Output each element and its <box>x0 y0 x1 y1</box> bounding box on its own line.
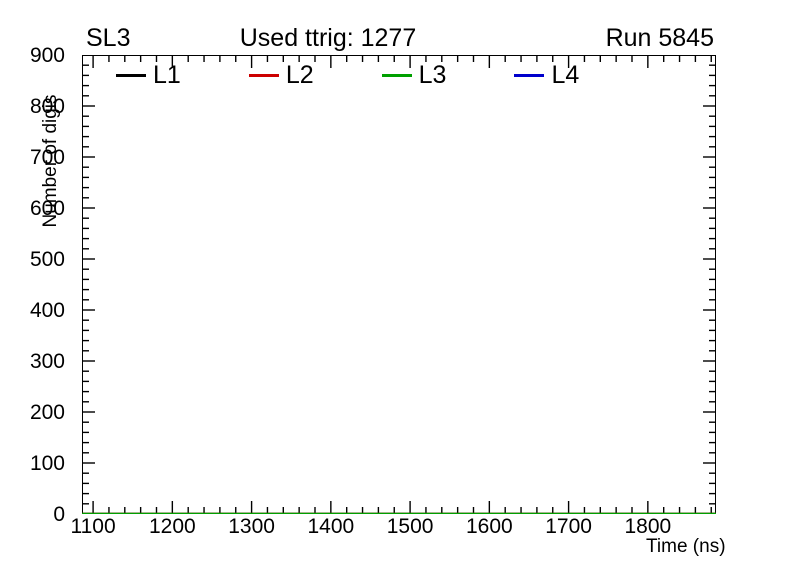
x-tick-label: 1300 <box>228 516 275 537</box>
x-tick-label: 1700 <box>545 516 592 537</box>
x-tick-label: 1800 <box>624 516 671 537</box>
legend-label: L1 <box>153 63 181 88</box>
legend-item-l1[interactable]: L1 <box>116 63 181 88</box>
axis-ticks <box>82 55 716 514</box>
y-tick-label: 100 <box>30 453 65 474</box>
legend-label: L3 <box>419 63 447 88</box>
y-tick-label: 200 <box>30 402 65 423</box>
y-tick-label: 0 <box>53 504 65 525</box>
legend-swatch-l3-icon <box>382 74 412 77</box>
legend: L1L2L3L4 <box>84 58 714 92</box>
legend-item-l2[interactable]: L2 <box>249 63 314 88</box>
x-tick-label: 1100 <box>71 516 116 537</box>
legend-label: L2 <box>286 63 314 88</box>
plot-area <box>82 55 716 514</box>
y-tick-label: 400 <box>30 300 65 321</box>
root-canvas: SL3 Used ttrig: 1277 Run 5845 Number of … <box>0 0 796 572</box>
x-tick-label: 1600 <box>466 516 513 537</box>
legend-item-l3[interactable]: L3 <box>382 63 447 88</box>
x-tick-label: 1400 <box>307 516 354 537</box>
y-tick-label: 300 <box>30 351 65 372</box>
header-run-label: Run 5845 <box>606 26 714 51</box>
y-tick-label: 800 <box>30 96 65 117</box>
x-axis-title: Time (ns) <box>646 536 726 558</box>
legend-swatch-l2-icon <box>249 74 279 77</box>
legend-swatch-l1-icon <box>116 74 146 77</box>
legend-swatch-l4-icon <box>514 74 544 77</box>
x-tick-label: 1200 <box>149 516 196 537</box>
y-tick-label: 700 <box>30 147 65 168</box>
y-tick-label: 500 <box>30 249 65 270</box>
y-tick-label: 600 <box>30 198 65 219</box>
legend-label: L4 <box>551 63 579 88</box>
legend-item-l4[interactable]: L4 <box>514 63 579 88</box>
y-tick-label: 900 <box>30 45 65 66</box>
x-tick-label: 1500 <box>387 516 434 537</box>
